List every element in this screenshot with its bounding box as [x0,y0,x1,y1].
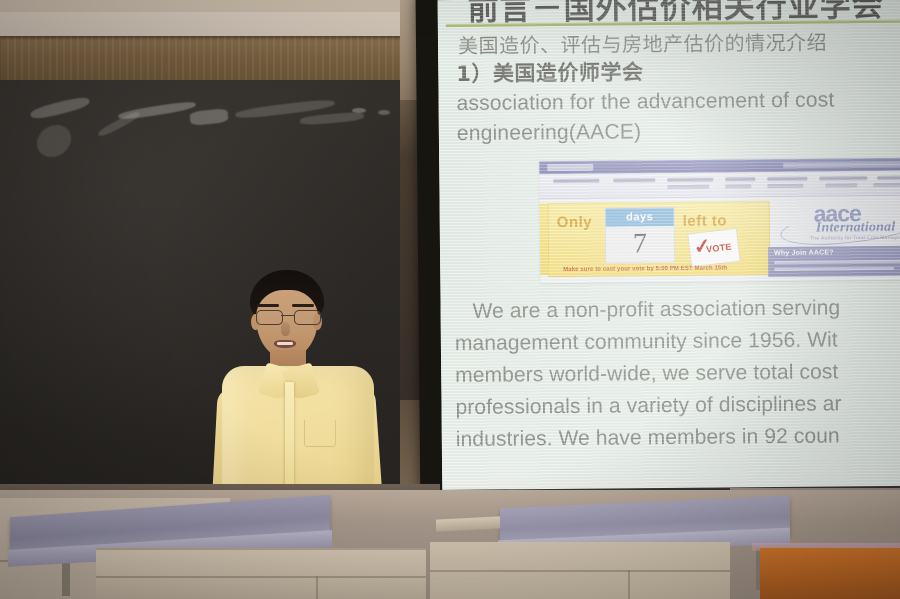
chalk-smudge [29,95,90,121]
nav-item [825,183,857,187]
nav-item [667,178,713,182]
nav-item [667,185,709,189]
chalk-smudge [352,108,366,113]
chalk-smudge [378,110,390,115]
wood-cabinet [760,548,900,599]
why-join-title: Why Join AACE? [774,249,834,257]
nav-item [725,177,755,181]
body-line-5: industries. We have members in 92 coun [456,424,840,452]
why-join-panel: Why Join AACE? [768,245,900,277]
vote-label: VOTE [706,242,733,255]
nose [281,322,290,336]
slide-heading: 1）美国造价师学会 [456,56,643,88]
nav-item [877,176,900,180]
wooden-beam [0,36,450,82]
presentation-slide: 前言－国外估价相关行业学会 美国造价、评估与房地产估价的情况介绍 1）美国造价师… [438,0,900,500]
slide-subtitle: 美国造价、评估与房地产估价的情况介绍 [458,26,827,59]
nav-item [553,179,599,183]
embedded-website-screenshot: Only days 7 left to ✓ VOTE Make sure to … [539,157,900,283]
projection-screen: 前言－国外估价相关行业学会 美国造价、评估与房地产估价的情况介绍 1）美国造价师… [438,0,900,500]
website-navbar [539,170,900,199]
chalk-smudge [31,118,78,163]
body-line-4: professionals in a variety of discipline… [455,392,841,420]
association-name-line2: engineering(AACE) [457,120,642,146]
banner-left-to-label: left to [683,212,727,229]
days-counter: days 7 [605,207,676,264]
eyebrow-right [292,304,314,307]
lens-right [294,310,321,325]
lectern [96,548,426,599]
cabinet-seam [430,570,730,572]
why-join-text-line [774,267,894,271]
days-label: days [606,208,674,227]
body-line-2: management community since 1956. Wit [455,328,838,356]
glasses-bridge [281,315,294,316]
association-name-line1: association for the advancement of cost [456,88,834,116]
nav-item [725,184,751,188]
lectern-seam-vertical [316,576,318,599]
vote-deadline-note: Make sure to cast your vote by 5:00 PM E… [563,265,727,273]
aace-logo: aace International The Authority for Tot… [780,201,900,246]
website-utility-links [783,161,900,167]
cabinet-seam-vertical [628,570,630,599]
lens-left [256,310,283,325]
shirt-pocket [304,420,336,447]
body-line-1: We are a non-profit association serving [472,296,840,324]
chalk-smudge [300,111,365,126]
nav-item [819,176,867,180]
nav-item [873,183,900,187]
nav-item [613,178,655,182]
why-join-text-line [774,260,900,264]
nav-item [767,184,803,188]
eyebrow-left [257,304,279,307]
teeth [277,342,293,345]
beam-wood-grain [0,36,450,82]
website-logo-placeholder [547,164,593,171]
vote-ballot-icon: ✓ VOTE [687,228,741,267]
body-line-3: members world-wide, we serve total cost [455,360,838,388]
vote-banner: Only days 7 left to ✓ VOTE Make sure to … [548,201,771,277]
days-count: 7 [606,226,674,263]
logo-tagline: The Authority for Total Cost Management [810,235,900,242]
banner-only-label: Only [557,214,593,231]
lecture-room-photo: 前言－国外估价相关行业学会 美国造价、评估与房地产估价的情况介绍 1）美国造价师… [0,0,900,599]
projection-screen-frame: 前言－国外估价相关行业学会 美国造价、评估与房地产估价的情况介绍 1）美国造价师… [415,0,900,514]
nav-item [767,177,807,181]
lectern-seam [96,576,426,578]
mouth [274,340,296,348]
chalk-smudge [189,108,228,126]
cabinet-center [430,542,730,599]
